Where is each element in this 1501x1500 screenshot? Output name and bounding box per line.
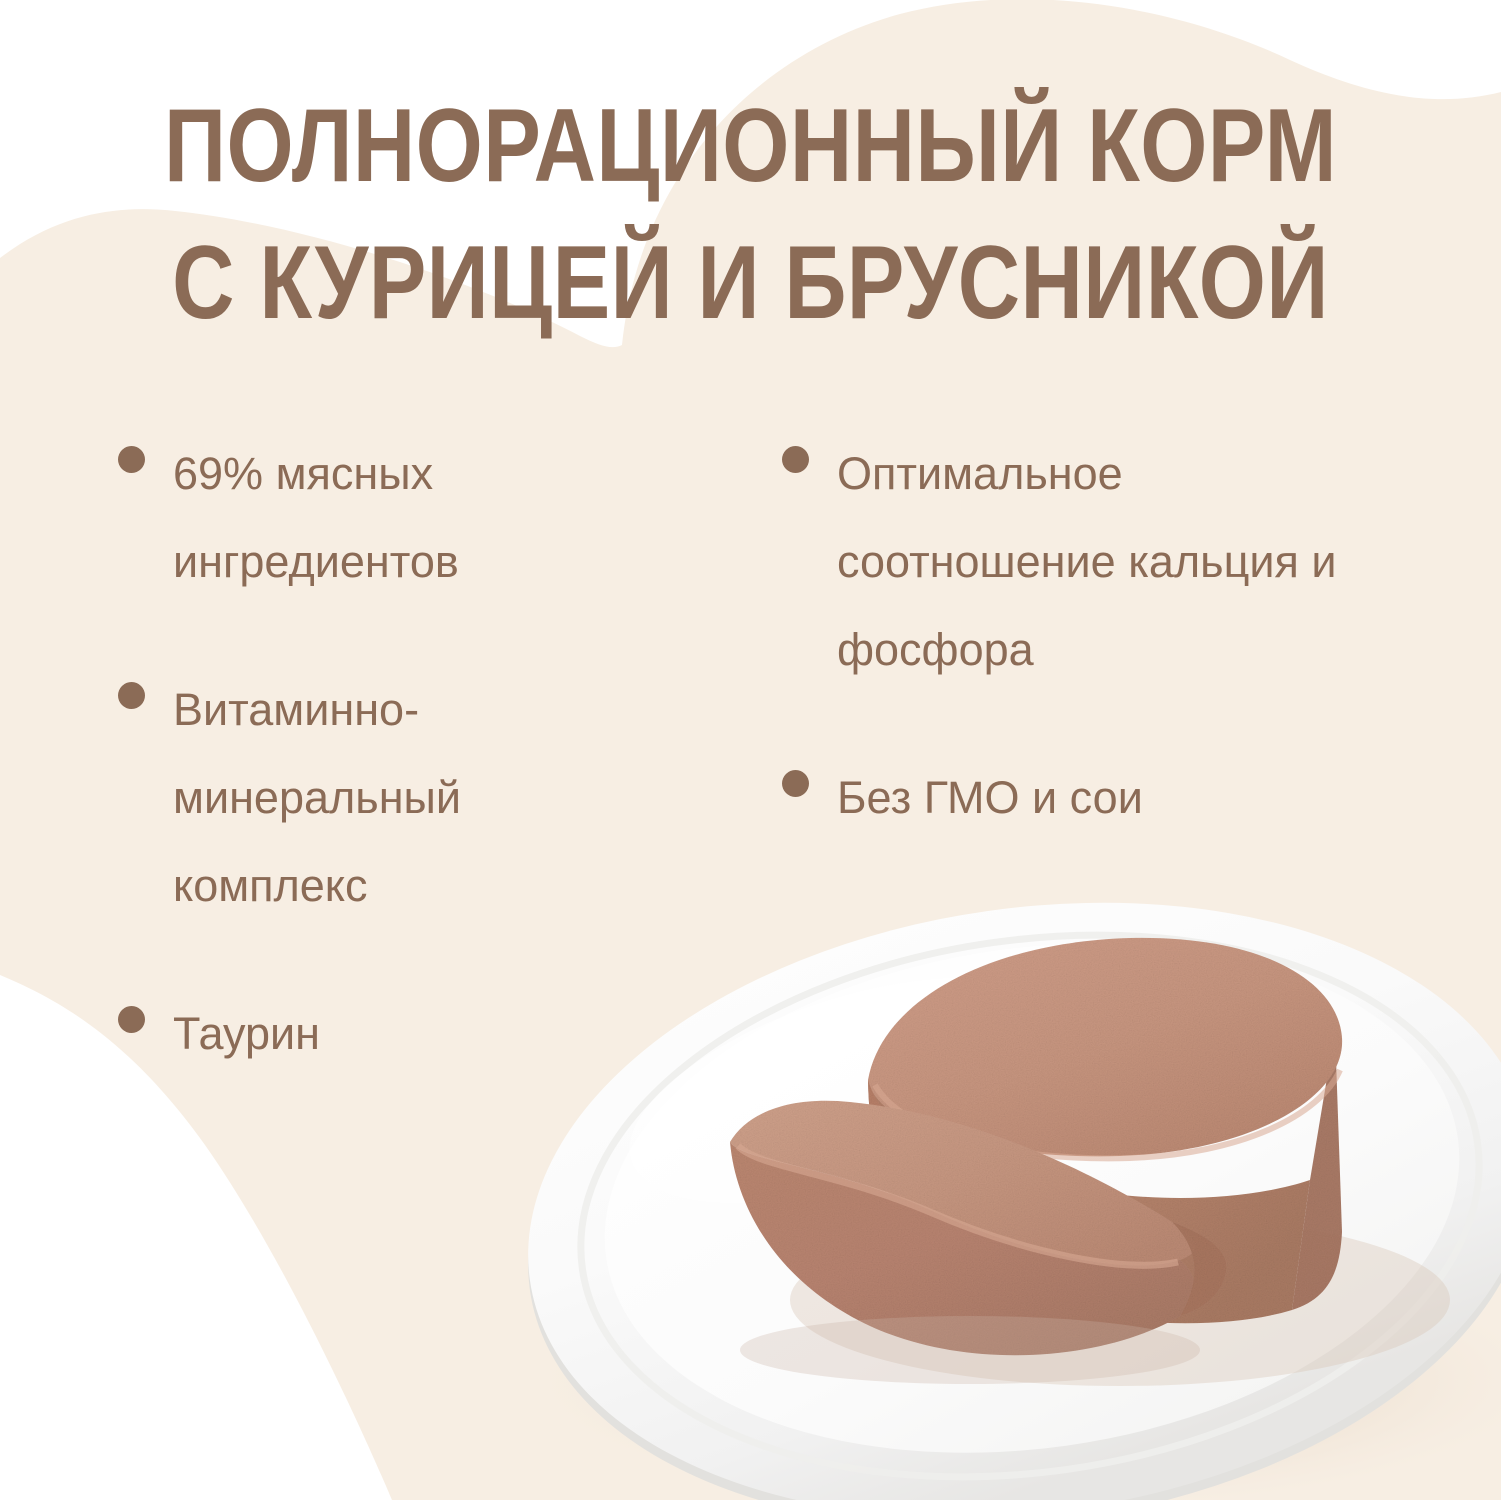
list-item: Без ГМО и сои: [782, 754, 1380, 842]
title-line-1: ПОЛНОРАЦИОННЫЙ КОРМ: [128, 78, 1374, 215]
bullet-dot-icon: [118, 682, 145, 709]
bullet-dot-icon: [118, 446, 145, 473]
list-item: 69% мясных ингредиентов: [118, 430, 640, 606]
bullet-dot-icon: [782, 770, 809, 797]
bullet-dot-icon: [118, 1006, 145, 1033]
page-title: ПОЛНОРАЦИОННЫЙ КОРМ С КУРИЦЕЙ И БРУСНИКО…: [0, 78, 1501, 352]
feature-text: Оптимальное соотношение кальция и фосфор…: [837, 430, 1377, 694]
pate-slice-shadow: [740, 1316, 1200, 1384]
feature-text: Без ГМО и сои: [837, 754, 1143, 842]
feature-text: Таурин: [173, 990, 320, 1078]
feature-text: Витаминно-минеральный комплекс: [173, 666, 603, 930]
feature-text: 69% мясных ингредиентов: [173, 430, 603, 606]
list-item: Витаминно-минеральный комплекс: [118, 666, 640, 930]
list-item: Оптимальное соотношение кальция и фосфор…: [782, 430, 1380, 694]
title-line-2: С КУРИЦЕЙ И БРУСНИКОЙ: [128, 215, 1374, 352]
feature-list: 69% мясных ингредиентов Витаминно-минера…: [0, 430, 1501, 1138]
bullet-dot-icon: [782, 446, 809, 473]
product-feature-card: ПОЛНОРАЦИОННЫЙ КОРМ С КУРИЦЕЙ И БРУСНИКО…: [0, 0, 1501, 1500]
feature-column-right: Оптимальное соотношение кальция и фосфор…: [640, 430, 1380, 1138]
feature-column-left: 69% мясных ингредиентов Витаминно-минера…: [0, 430, 640, 1138]
list-item: Таурин: [118, 990, 640, 1078]
